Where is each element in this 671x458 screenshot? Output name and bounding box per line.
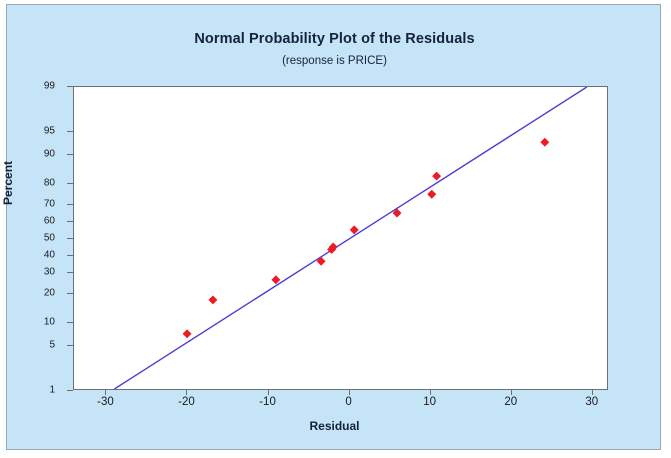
- y-axis-tick-mark: [67, 131, 73, 132]
- y-axis-tick-mark: [67, 183, 73, 184]
- x-axis-tick-mark: [105, 390, 106, 395]
- y-axis-tick-label: 5: [15, 340, 55, 351]
- data-point: [183, 329, 192, 338]
- x-axis-tick-mark: [268, 390, 269, 395]
- data-point: [540, 138, 549, 147]
- y-axis-tick-label: 80: [15, 178, 55, 189]
- y-axis-tick-mark: [67, 86, 73, 87]
- x-axis-tick-label: -10: [245, 396, 291, 408]
- y-axis-tick-label: 20: [15, 287, 55, 298]
- chart-figure: Normal Probability Plot of the Residuals…: [6, 4, 661, 450]
- x-axis-tick-mark: [511, 390, 512, 395]
- x-axis-tick-label: 20: [488, 396, 534, 408]
- y-axis-tick-label: 99: [15, 81, 55, 92]
- y-axis-tick-label: 60: [15, 216, 55, 227]
- y-axis-tick-label: 70: [15, 198, 55, 209]
- y-axis-tick-mark: [67, 390, 73, 391]
- y-axis-tick-mark: [67, 154, 73, 155]
- x-axis-tick-label: 10: [407, 396, 453, 408]
- x-axis-tick-mark: [186, 390, 187, 395]
- y-axis-tick-mark: [67, 272, 73, 273]
- y-axis-tick-label: 90: [15, 149, 55, 160]
- y-axis-tick-mark: [67, 255, 73, 256]
- y-axis-label: Percent: [1, 161, 15, 205]
- x-axis-tick-mark: [592, 390, 593, 395]
- data-point: [432, 172, 441, 181]
- x-axis-tick-label: -30: [82, 396, 128, 408]
- data-point: [271, 275, 280, 284]
- chart-title: Normal Probability Plot of the Residuals: [7, 31, 662, 47]
- y-axis-tick-mark: [67, 345, 73, 346]
- x-axis-tick-label: 30: [569, 396, 615, 408]
- plot-area: [73, 86, 608, 390]
- y-axis-tick-label: 40: [15, 249, 55, 260]
- y-axis-tick-mark: [67, 293, 73, 294]
- y-axis-tick-label: 30: [15, 267, 55, 278]
- x-axis-tick-label: 0: [326, 396, 372, 408]
- y-axis-tick-label: 1: [15, 385, 55, 396]
- x-axis-tick-mark: [430, 390, 431, 395]
- chart-subtitle: (response is PRICE): [7, 55, 662, 67]
- y-axis-tick-label: 95: [15, 125, 55, 136]
- plot-canvas: [74, 87, 607, 389]
- y-axis-tick-mark: [67, 238, 73, 239]
- data-point: [427, 190, 436, 199]
- y-axis-tick-mark: [67, 221, 73, 222]
- y-axis-tick-mark: [67, 322, 73, 323]
- reference-line: [114, 87, 586, 389]
- x-axis-tick-mark: [349, 390, 350, 395]
- y-axis-tick-mark: [67, 204, 73, 205]
- y-axis-tick-label: 50: [15, 233, 55, 244]
- x-axis-tick-label: -20: [163, 396, 209, 408]
- data-point: [208, 295, 217, 304]
- y-axis-tick-label: 10: [15, 316, 55, 327]
- x-axis-label: Residual: [7, 419, 662, 433]
